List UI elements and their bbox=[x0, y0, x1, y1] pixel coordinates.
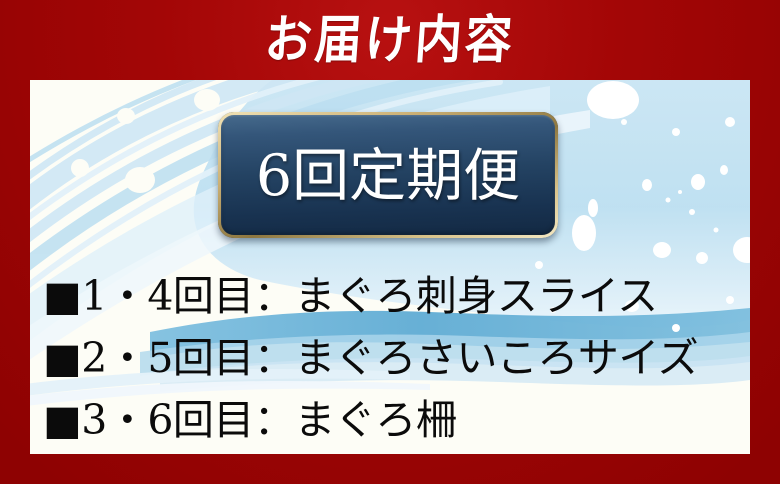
subscription-plaque: 6回定期便 bbox=[218, 112, 558, 238]
list-item: ■1・4回目：まぐろ刺身スライス bbox=[43, 265, 743, 327]
delivery-contents-banner: お届け内容 bbox=[0, 0, 780, 484]
content-panel: 6回定期便 ■1・4回目：まぐろ刺身スライス ■2・5回目：まぐろさいころサイズ… bbox=[30, 80, 750, 454]
list-item: ■2・5回目：まぐろさいころサイズ bbox=[43, 327, 743, 389]
banner-header: お届け内容 bbox=[0, 0, 780, 80]
page-title: お届け内容 bbox=[263, 14, 517, 66]
plaque-gold-border: 6回定期便 bbox=[218, 112, 558, 238]
list-item: ■3・6回目：まぐろ柵 bbox=[43, 389, 743, 451]
plaque-label: 6回定期便 bbox=[256, 148, 520, 205]
plaque-body: 6回定期便 bbox=[221, 115, 555, 235]
delivery-schedule-list: ■1・4回目：まぐろ刺身スライス ■2・5回目：まぐろさいころサイズ ■3・6回… bbox=[43, 265, 743, 451]
